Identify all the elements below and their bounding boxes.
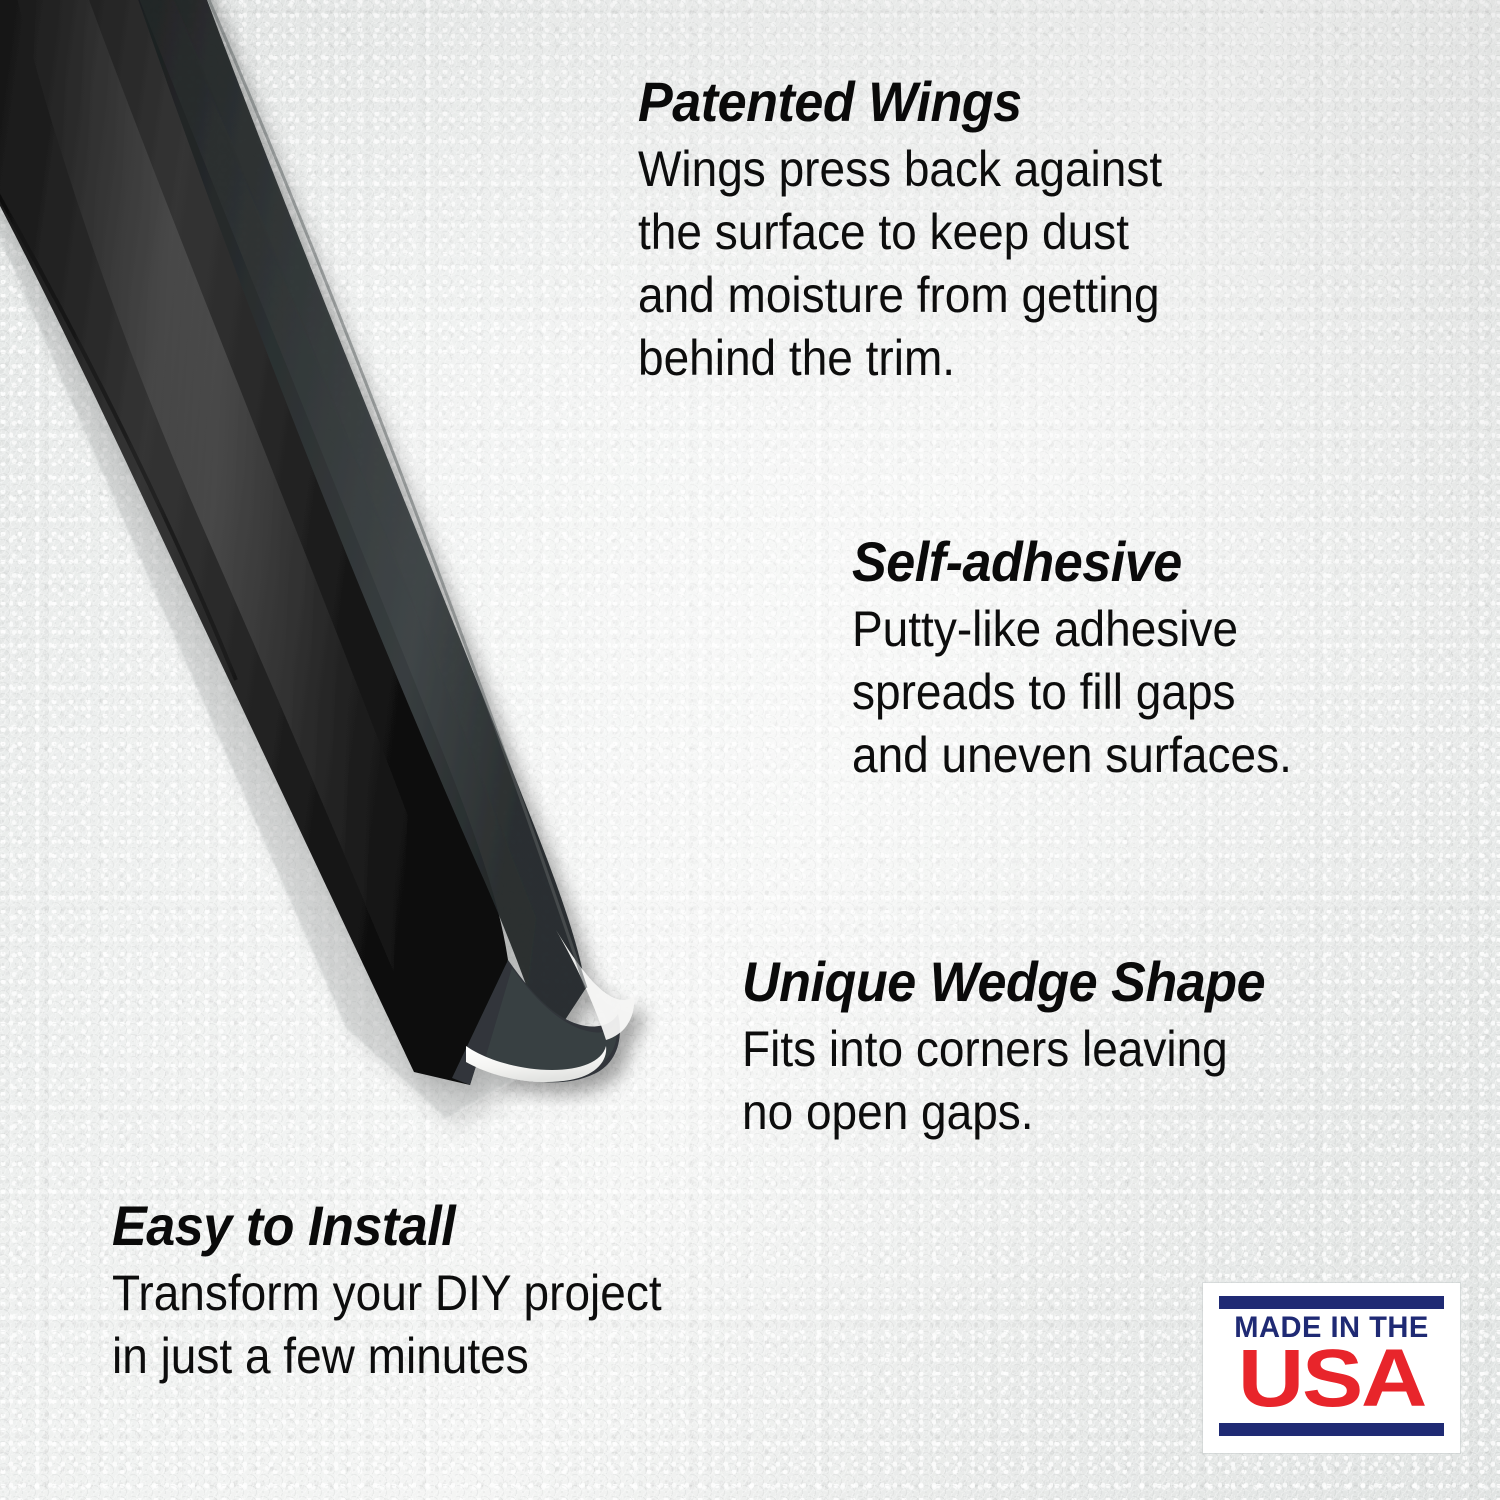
feature-heading-unique-wedge-shape: Unique Wedge Shape	[742, 952, 1265, 1012]
feature-body-self-adhesive: Putty-like adhesive spreads to fill gaps…	[852, 598, 1292, 787]
feature-line: and uneven surfaces.	[852, 724, 1292, 787]
feature-line: behind the trim.	[638, 327, 1162, 390]
badge-top-bar	[1219, 1296, 1444, 1309]
feature-block-unique-wedge-shape: Unique Wedge Shape Fits into corners lea…	[742, 952, 1304, 1144]
made-in-the-usa-badge: MADE IN THE USA	[1203, 1283, 1460, 1453]
feature-heading-patented-wings: Patented Wings	[638, 72, 1168, 132]
badge-bottom-bar	[1219, 1423, 1444, 1436]
feature-line: Putty-like adhesive	[852, 598, 1292, 661]
feature-line: Transform your DIY project	[112, 1262, 662, 1325]
feature-block-self-adhesive: Self-adhesive Putty-like adhesive spread…	[852, 532, 1330, 787]
feature-line: Fits into corners leaving	[742, 1018, 1259, 1081]
badge-usa-text: USA	[1206, 1341, 1458, 1417]
feature-line: spreads to fill gaps	[852, 661, 1292, 724]
feature-line: the surface to keep dust	[638, 201, 1162, 264]
feature-line: and moisture from getting	[638, 264, 1162, 327]
feature-line: no open gaps.	[742, 1081, 1259, 1144]
feature-block-patented-wings: Patented Wings Wings press back against …	[638, 72, 1208, 390]
feature-heading-self-adhesive: Self-adhesive	[852, 532, 1297, 592]
feature-body-unique-wedge-shape: Fits into corners leaving no open gaps.	[742, 1018, 1259, 1144]
infographic-canvas: Patented Wings Wings press back against …	[0, 0, 1500, 1500]
feature-block-easy-to-install: Easy to Install Transform your DIY proje…	[112, 1196, 709, 1388]
feature-heading-easy-to-install: Easy to Install	[112, 1196, 668, 1256]
feature-line: in just a few minutes	[112, 1325, 662, 1388]
feature-line: Wings press back against	[638, 138, 1162, 201]
feature-body-patented-wings: Wings press back against the surface to …	[638, 138, 1162, 390]
feature-body-easy-to-install: Transform your DIY project in just a few…	[112, 1262, 662, 1388]
product-photo-wedge-trim	[0, 0, 700, 1160]
